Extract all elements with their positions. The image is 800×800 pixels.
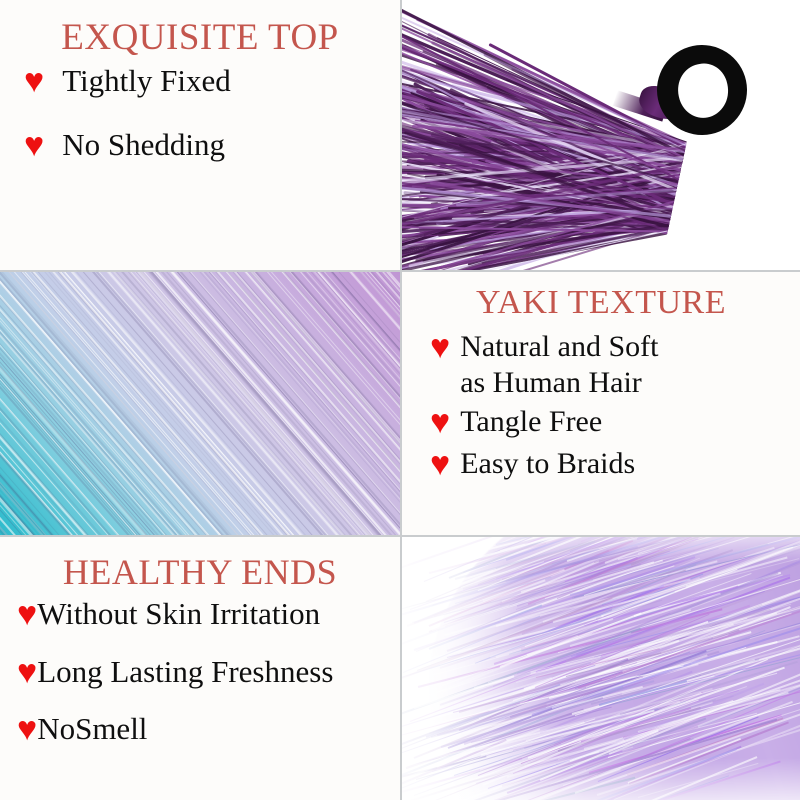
- panel-heading-yaki-texture: YAKI TEXTURE: [402, 284, 800, 322]
- heart-icon: ♥: [24, 128, 44, 164]
- feature-label: NoSmell: [37, 712, 394, 747]
- heart-icon: ♥: [430, 330, 450, 366]
- feature-label: Tangle Free: [460, 405, 790, 439]
- feature-label-line2: as Human Hair: [460, 366, 790, 400]
- photo-teal-lavender-ombre: [0, 272, 400, 535]
- panel-exquisite-top: EXQUISITE TOP ♥ Tightly Fixed ♥ No Shedd…: [0, 0, 400, 270]
- feature-label: Tightly Fixed: [62, 64, 388, 99]
- list-item: ♥ No Shedding: [24, 128, 388, 164]
- panel-heading-exquisite-top: EXQUISITE TOP: [0, 16, 400, 59]
- product-feature-infographic: EXQUISITE TOP ♥ Tightly Fixed ♥ No Shedd…: [0, 0, 800, 800]
- feature-label: Long Lasting Freshness: [37, 655, 394, 690]
- panel-healthy-ends: HEALTHY ENDS ♥ Without Skin Irritation ♥…: [0, 537, 400, 800]
- grid-divider-horizontal-bottom: [0, 535, 800, 537]
- panel-yaki-texture: YAKI TEXTURE ♥ Natural and Soft as Human…: [402, 272, 800, 535]
- feature-label: Natural and Soft as Human Hair: [460, 330, 790, 399]
- panel-heading-healthy-ends: HEALTHY ENDS: [0, 551, 400, 593]
- heart-icon: ♥: [17, 655, 37, 691]
- photo-lavender-hair: [402, 537, 800, 800]
- list-item: ♥ NoSmell: [17, 712, 394, 748]
- feature-label: No Shedding: [62, 128, 388, 163]
- feature-label: Easy to Braids: [460, 447, 790, 481]
- hair-strand-fan: [402, 9, 696, 270]
- grid-divider-vertical: [400, 0, 402, 800]
- list-item: ♥ Easy to Braids: [430, 447, 790, 483]
- feature-list-healthy-ends: ♥ Without Skin Irritation ♥ Long Lasting…: [17, 597, 394, 770]
- ombre-hair-band: [0, 272, 400, 535]
- list-item: ♥ Tangle Free: [430, 405, 790, 441]
- list-item: ♥ Without Skin Irritation: [17, 597, 394, 633]
- heart-icon: ♥: [430, 447, 450, 483]
- heart-icon: ♥: [430, 405, 450, 441]
- list-item: ♥ Natural and Soft as Human Hair: [430, 330, 790, 399]
- feature-list-exquisite-top: ♥ Tightly Fixed ♥ No Shedding: [24, 64, 388, 191]
- heart-icon: ♥: [17, 712, 37, 748]
- feature-label-line1: Natural and Soft: [460, 330, 658, 363]
- feature-label: Without Skin Irritation: [37, 597, 394, 632]
- list-item: ♥ Tightly Fixed: [24, 64, 388, 100]
- grid-divider-horizontal-top: [0, 270, 800, 272]
- photo-purple-ponytail: [402, 0, 800, 270]
- feature-list-yaki-texture: ♥ Natural and Soft as Human Hair ♥ Tangl…: [430, 330, 790, 489]
- heart-icon: ♥: [17, 597, 37, 633]
- list-item: ♥ Long Lasting Freshness: [17, 655, 394, 691]
- heart-icon: ♥: [24, 64, 44, 100]
